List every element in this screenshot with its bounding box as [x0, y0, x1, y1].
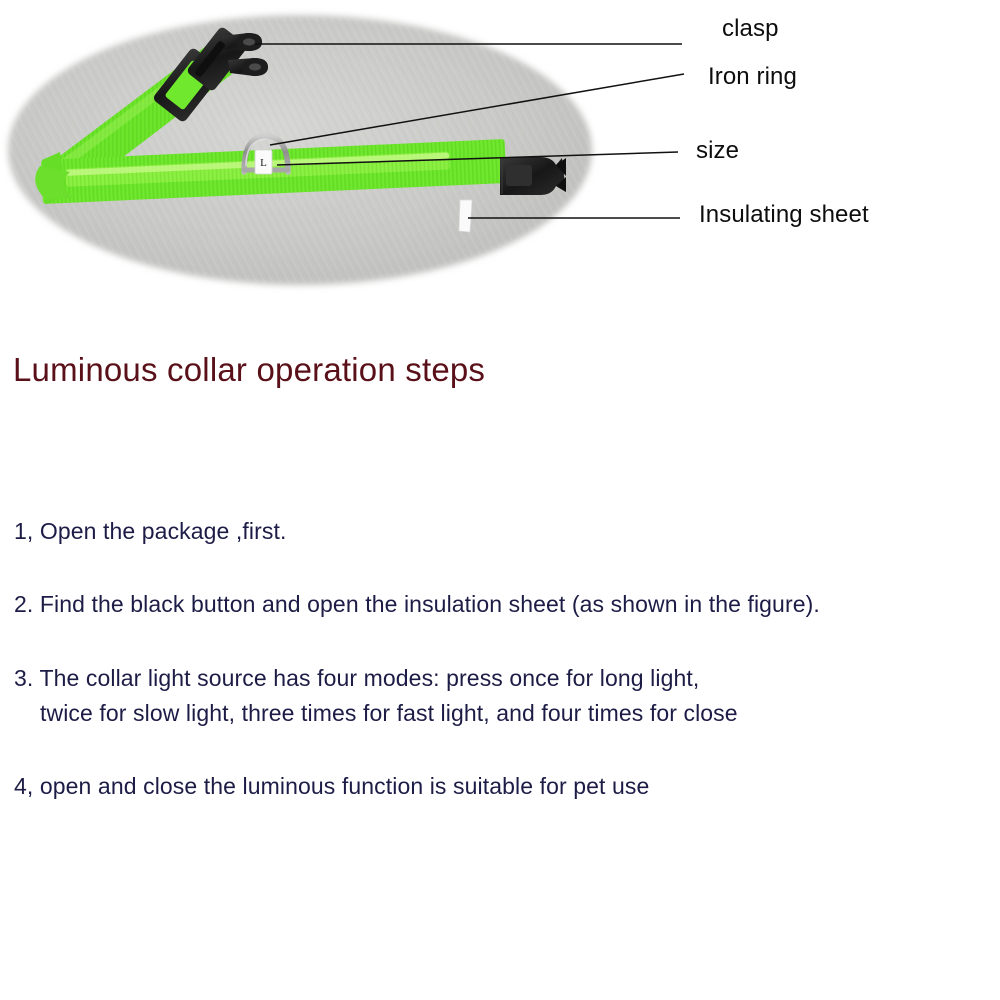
callout-label-clasp: clasp	[722, 17, 779, 41]
step-item-4: 4, open and close the luminous function …	[14, 771, 974, 801]
step-text-1: 1, Open the package ,first.	[14, 518, 286, 544]
callout-label-insulating-sheet: Insulating sheet	[699, 203, 869, 227]
section-heading: Luminous collar operation steps	[13, 352, 485, 389]
step-item-2: 2. Find the black button and open the in…	[14, 589, 974, 619]
step-text-3: 3. The collar light source has four mode…	[14, 665, 699, 691]
step-item-1: 1, Open the package ,first.	[14, 516, 974, 546]
insulating-sheet-tab	[459, 200, 472, 232]
step-text-4: 4, open and close the luminous function …	[14, 773, 649, 799]
callout-label-size: size	[696, 139, 739, 163]
svg-text:L: L	[260, 157, 267, 169]
step-item-3: 3. The collar light source has four mode…	[14, 663, 974, 729]
step-text-2: 2. Find the black button and open the in…	[14, 591, 820, 617]
callout-label-iron-ring: Iron ring	[708, 65, 797, 89]
product-diagram: L	[0, 0, 1000, 300]
size-tag: L	[255, 150, 272, 174]
step-text-3-continued: twice for slow light, three times for fa…	[14, 698, 974, 728]
operation-steps-list: 1, Open the package ,first. 2. Find the …	[14, 516, 974, 802]
